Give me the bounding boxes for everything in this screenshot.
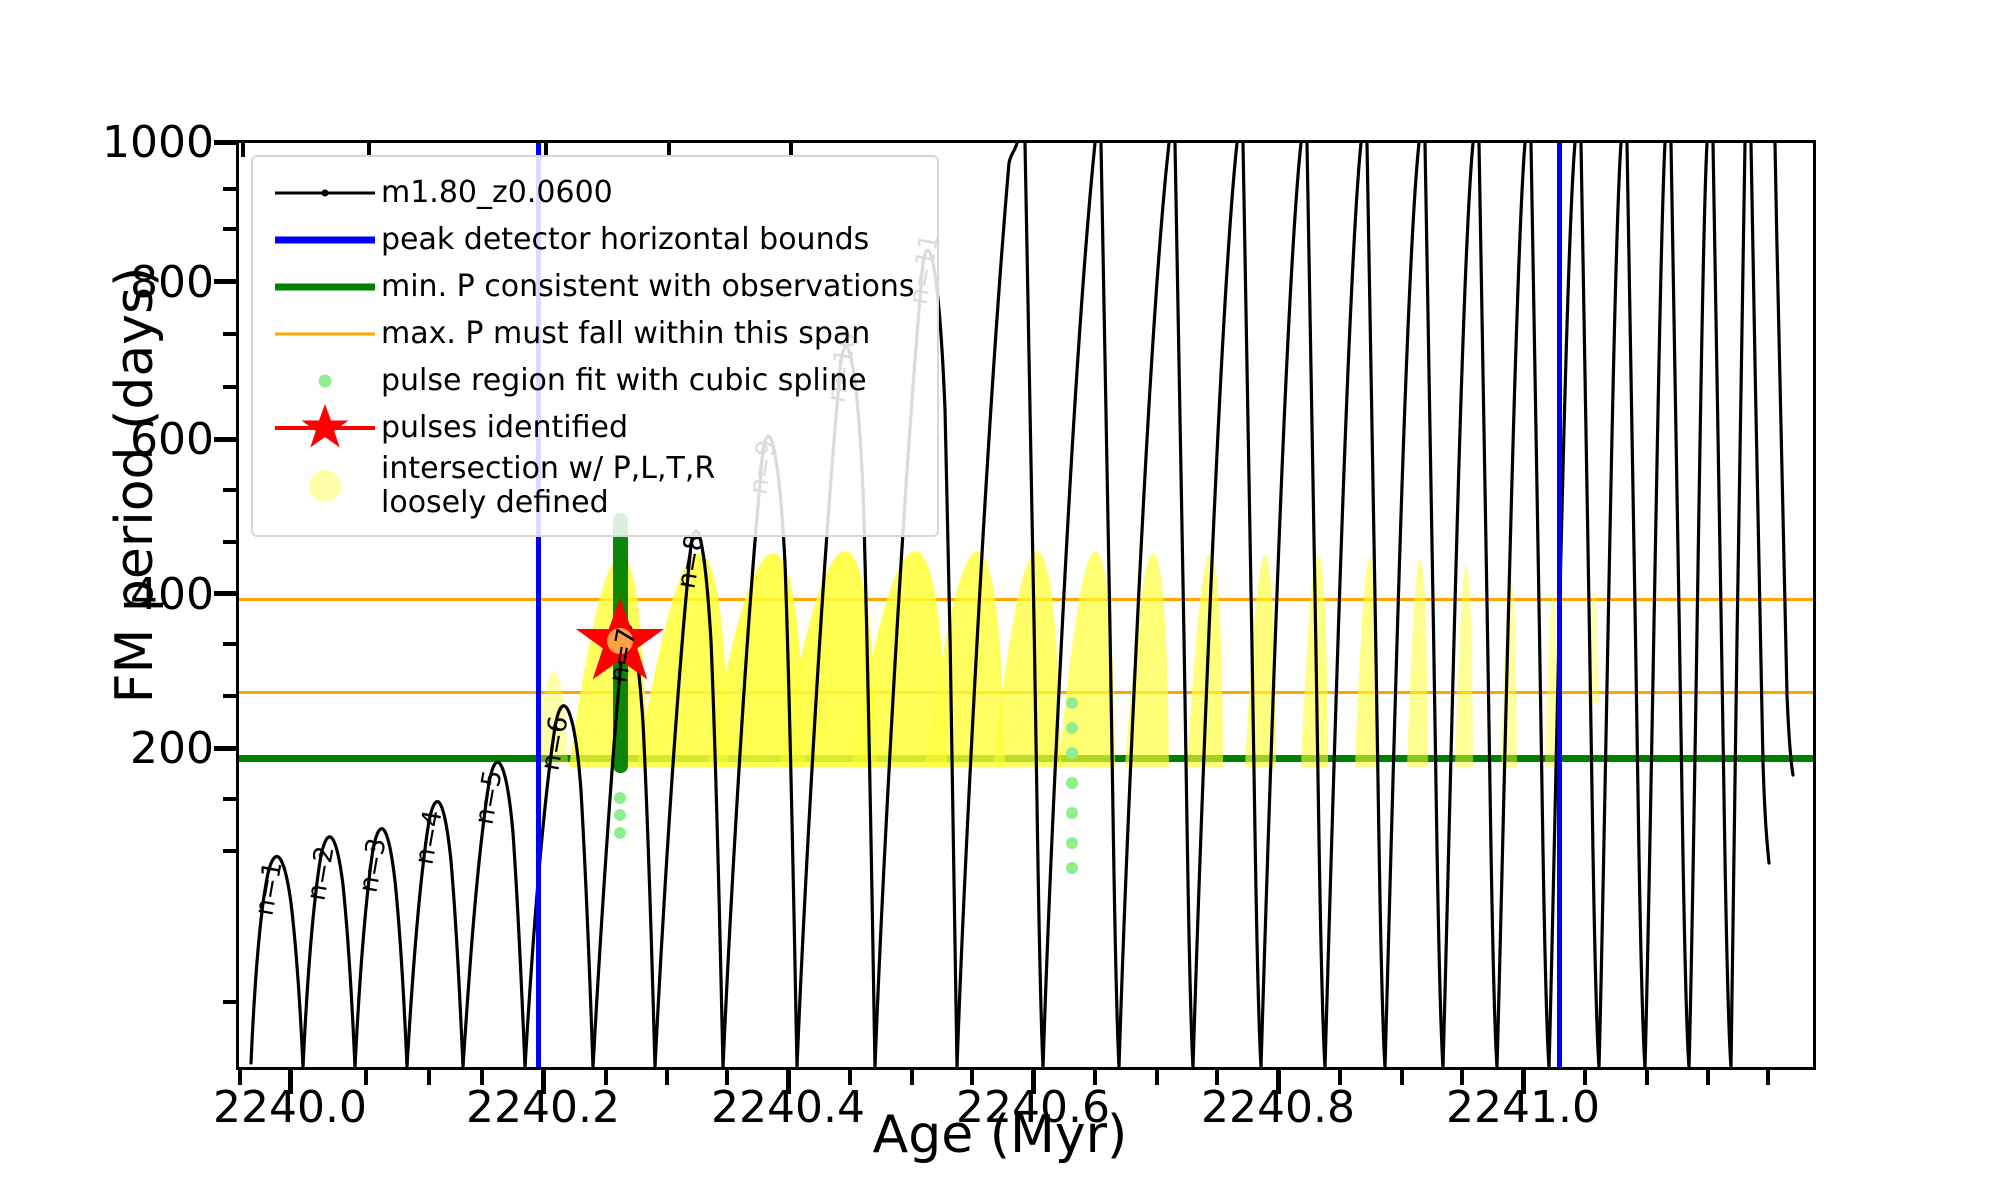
- x-minor-tick: [1583, 1070, 1587, 1085]
- plot-area: n=1 n=2 n=3 n=4 n=5 n=6 n=7 n=8 n=9 n=10…: [236, 140, 1816, 1070]
- x-minor-tick: [665, 1070, 669, 1085]
- x-minor-tick: [848, 1070, 852, 1085]
- x-minor-tick: [1215, 1070, 1219, 1085]
- x-major-tick: [786, 1070, 791, 1094]
- y-major-tick: [214, 437, 238, 442]
- orange-line-marker-icon: [269, 314, 381, 354]
- x-minor-tick: [1766, 1070, 1770, 1085]
- y-major-tick: [214, 140, 238, 145]
- x-minor-tick: [1093, 1070, 1097, 1085]
- legend-label-spline: pulse region fit with cubic spline: [381, 364, 867, 398]
- x-minor-tick: [480, 1070, 484, 1085]
- x-major-tick: [541, 1070, 546, 1094]
- legend-label-pulses: pulses identified: [381, 411, 628, 445]
- x-minor-tick: [364, 1070, 368, 1085]
- blue-peak-bound-right: [1557, 143, 1562, 1067]
- legend-label-peak-bounds: peak detector horizontal bounds: [381, 223, 869, 257]
- legend-item-pulses[interactable]: pulses identified: [269, 404, 915, 451]
- x-major-tick: [1521, 1070, 1526, 1094]
- x-minor-tick: [725, 1070, 729, 1085]
- legend-label-intersection: intersection w/ P,L,T,R loosely defined: [381, 452, 715, 519]
- chart-legend: m1.80_z0.0600 peak detector horizontal b…: [251, 155, 939, 537]
- red-star-marker-icon: [269, 408, 381, 448]
- y-tick-label-800: 800: [14, 257, 214, 308]
- blue-line-marker-icon: [269, 220, 381, 260]
- green-dot-marker-icon: [269, 361, 381, 401]
- y-major-tick: [214, 279, 238, 284]
- legend-item-peak-bounds[interactable]: peak detector horizontal bounds: [269, 216, 915, 263]
- x-major-tick: [288, 1070, 293, 1094]
- figure-canvas: FM period (days) Age (Myr) 1000 800 600 …: [0, 0, 2000, 1200]
- y-tick-label-200: 200: [14, 723, 214, 774]
- x-minor-tick: [238, 1070, 242, 1085]
- legend-label-max-span: max. P must fall within this span: [381, 317, 870, 351]
- legend-label-min-period: min. P consistent with observations: [381, 270, 915, 304]
- y-tick-label-400: 400: [14, 569, 214, 620]
- green-line-marker-icon: [269, 267, 381, 307]
- x-major-tick: [1031, 1070, 1036, 1094]
- legend-item-max-span[interactable]: max. P must fall within this span: [269, 310, 915, 357]
- x-major-tick: [1276, 1070, 1281, 1094]
- y-tick-label-600: 600: [14, 414, 214, 465]
- line-dot-marker-icon: [269, 173, 381, 213]
- legend-label-model: m1.80_z0.0600: [381, 176, 613, 210]
- x-minor-tick: [910, 1070, 914, 1085]
- x-minor-tick: [1155, 1070, 1159, 1085]
- x-minor-tick: [1338, 1070, 1342, 1085]
- x-minor-tick: [970, 1070, 974, 1085]
- x-minor-tick: [427, 1070, 431, 1085]
- legend-item-spline[interactable]: pulse region fit with cubic spline: [269, 357, 915, 404]
- x-minor-tick: [1400, 1070, 1404, 1085]
- x-minor-tick: [1706, 1070, 1710, 1085]
- y-major-tick: [214, 746, 238, 751]
- x-minor-tick: [1460, 1070, 1464, 1085]
- legend-item-intersection[interactable]: intersection w/ P,L,T,R loosely defined: [269, 451, 915, 521]
- y-tick-label-1000: 1000: [14, 117, 214, 168]
- legend-item-model[interactable]: m1.80_z0.0600: [269, 169, 915, 216]
- legend-item-min-period[interactable]: min. P consistent with observations: [269, 263, 915, 310]
- x-minor-tick: [604, 1070, 608, 1085]
- y-major-tick: [214, 591, 238, 596]
- yellow-dot-marker-icon: [269, 454, 381, 518]
- x-minor-tick: [1645, 1070, 1649, 1085]
